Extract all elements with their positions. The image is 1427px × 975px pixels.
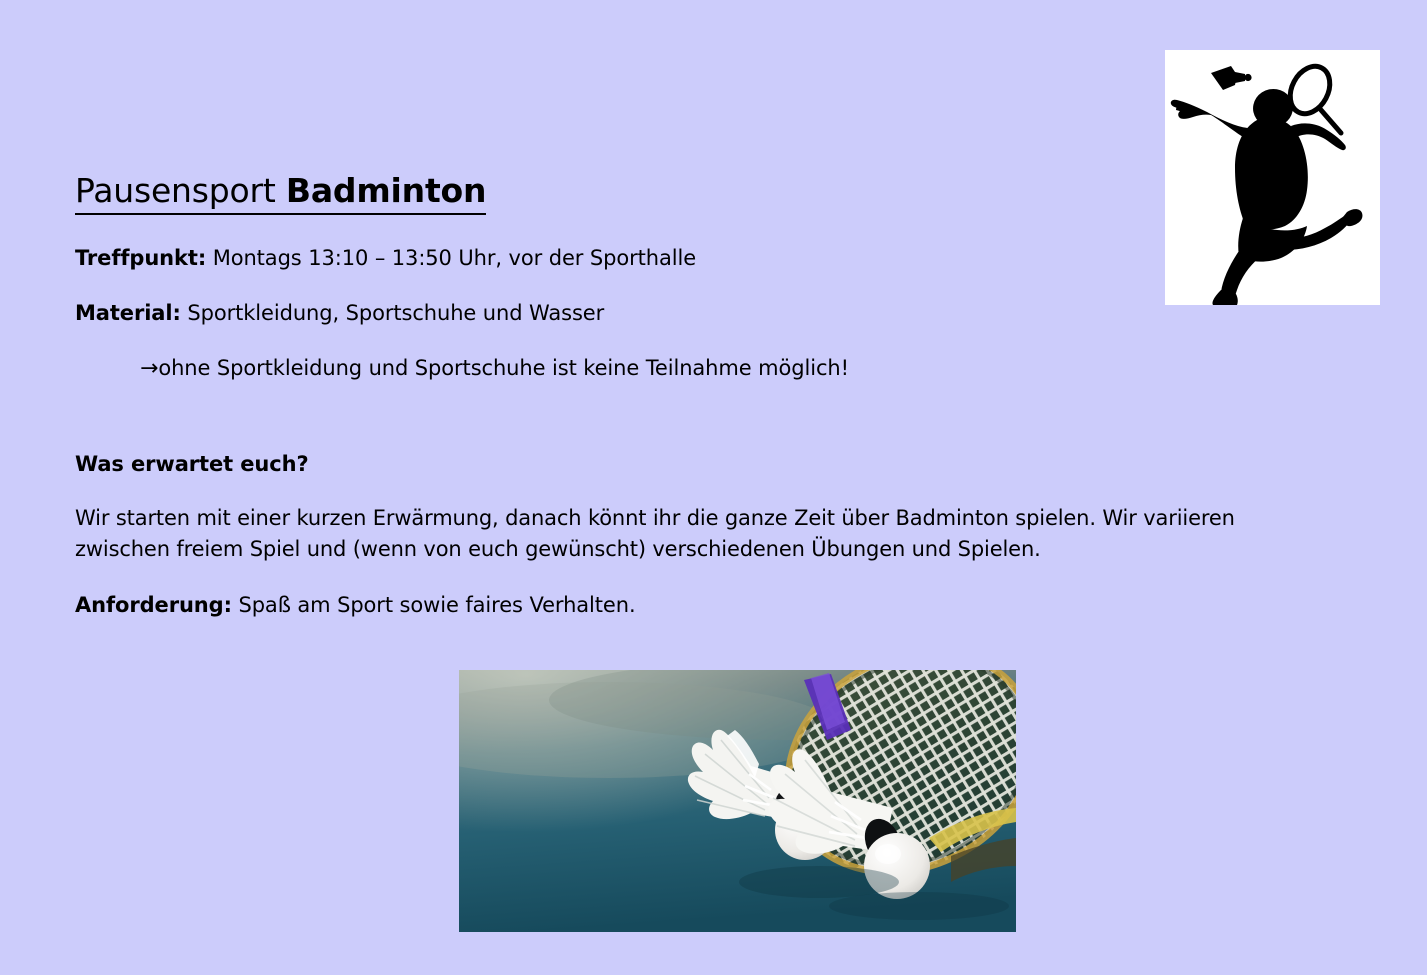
requirement-value: Spaß am Sport sowie faires Verhalten. [232,593,636,617]
material-label: Material: [75,301,181,325]
title-bold-part: Badminton [286,171,486,210]
arrow-right-icon: → [140,356,158,381]
material-note-line: →ohne Sportkleidung und Sportschuhe ist … [140,354,1310,383]
meeting-point-label: Treffpunkt: [75,246,206,270]
requirement-label: Anforderung: [75,593,232,617]
page-title: Pausensport Badminton [75,172,486,215]
meeting-point-value: Montags 13:10 – 13:50 Uhr, vor der Sport… [206,246,696,270]
meeting-point-line: Treffpunkt: Montags 13:10 – 13:50 Uhr, v… [75,245,1310,273]
title-regular-part: Pausensport [75,171,286,210]
document-page: Pausensport Badminton Treffpunkt: Montag… [0,0,1427,975]
section-spacer [75,410,1310,452]
section-heading: Was erwartet euch? [75,452,1310,476]
material-line: Material: Sportkleidung, Sportschuhe und… [75,300,1310,328]
requirement-line: Anforderung: Spaß am Sport sowie faires … [75,592,1310,620]
material-value: Sportkleidung, Sportschuhe und Wasser [181,301,604,325]
document-content: Pausensport Badminton Treffpunkt: Montag… [75,172,1310,646]
badminton-photo [459,670,1016,932]
material-note-text: ohne Sportkleidung und Sportschuhe ist k… [158,356,849,380]
description-paragraph: Wir starten mit einer kurzen Erwärmung, … [75,503,1307,565]
shuttlecock-photo-image [459,670,1016,932]
